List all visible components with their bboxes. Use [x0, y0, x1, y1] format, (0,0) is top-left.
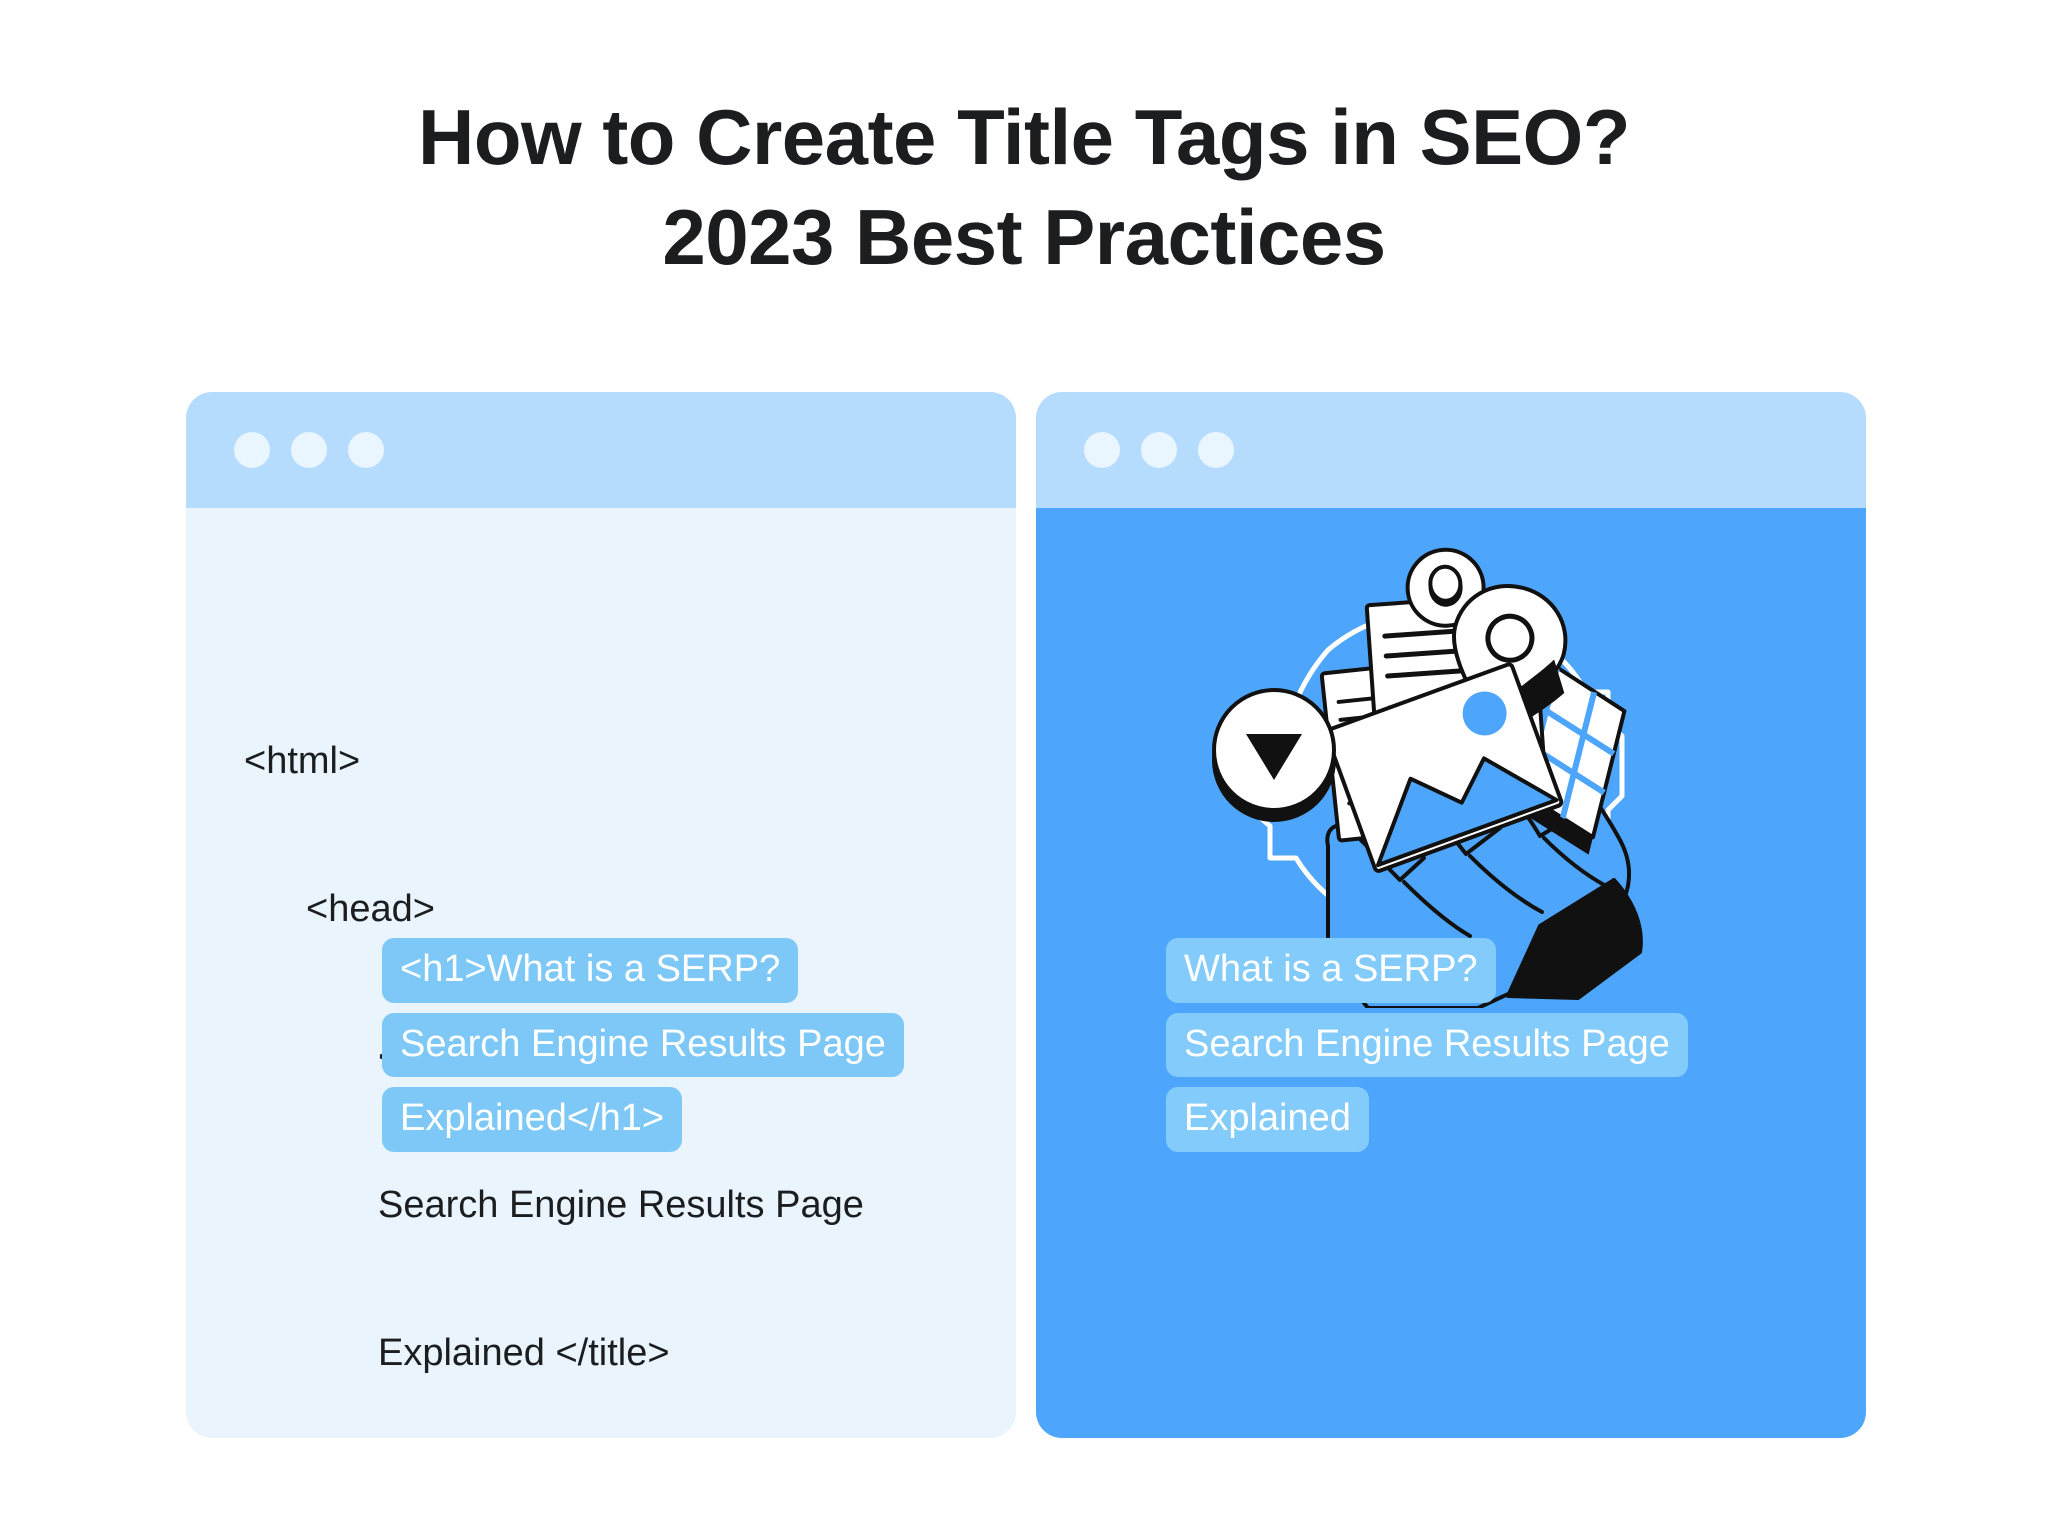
window-dot-close-icon[interactable]: [1084, 432, 1120, 468]
page-title-line-1: How to Create Title Tags in SEO?: [0, 88, 2048, 188]
window-content-right: What is a SERP? Search Engine Results Pa…: [1036, 508, 1866, 1438]
window-dot-maximize-icon[interactable]: [1198, 432, 1234, 468]
window-dot-close-icon[interactable]: [234, 432, 270, 468]
window-title-bar-left: [186, 392, 1016, 508]
highlight-pill: Search Engine Results Page: [382, 1013, 904, 1078]
highlight-pill: <h1>What is a SERP?: [382, 938, 798, 1003]
rendered-title-stack: What is a SERP? Search Engine Results Pa…: [1166, 938, 1688, 1152]
window-title-bar-right: [1036, 392, 1866, 508]
page-root: How to Create Title Tags in SEO? 2023 Be…: [0, 0, 2048, 1536]
window-dot-maximize-icon[interactable]: [348, 432, 384, 468]
highlight-pill: What is a SERP?: [1166, 938, 1496, 1003]
code-line: <head>: [244, 885, 964, 934]
page-title: How to Create Title Tags in SEO? 2023 Be…: [0, 88, 2048, 288]
comparison-panels: <html> <head> <title>What is a SERP? Sea…: [186, 392, 1866, 1438]
code-line: Explained </title>: [244, 1329, 964, 1378]
browser-window-rendered: What is a SERP? Search Engine Results Pa…: [1036, 392, 1866, 1438]
code-line: <html>: [244, 737, 964, 786]
highlight-pill: Explained: [1166, 1087, 1369, 1152]
window-dot-minimize-icon[interactable]: [291, 432, 327, 468]
page-title-line-2: 2023 Best Practices: [0, 188, 2048, 288]
code-line: Search Engine Results Page: [244, 1181, 964, 1230]
highlight-pill: Search Engine Results Page: [1166, 1013, 1688, 1078]
window-dot-minimize-icon[interactable]: [1141, 432, 1177, 468]
highlight-pill: Explained</h1>: [382, 1087, 682, 1152]
hand-holding-documents-map-pin-video-illustration: [1178, 528, 1698, 1008]
window-content-left: <html> <head> <title>What is a SERP? Sea…: [186, 508, 1016, 1438]
browser-window-code: <html> <head> <title>What is a SERP? Sea…: [186, 392, 1016, 1438]
h1-highlight-stack: <h1>What is a SERP? Search Engine Result…: [382, 938, 904, 1152]
